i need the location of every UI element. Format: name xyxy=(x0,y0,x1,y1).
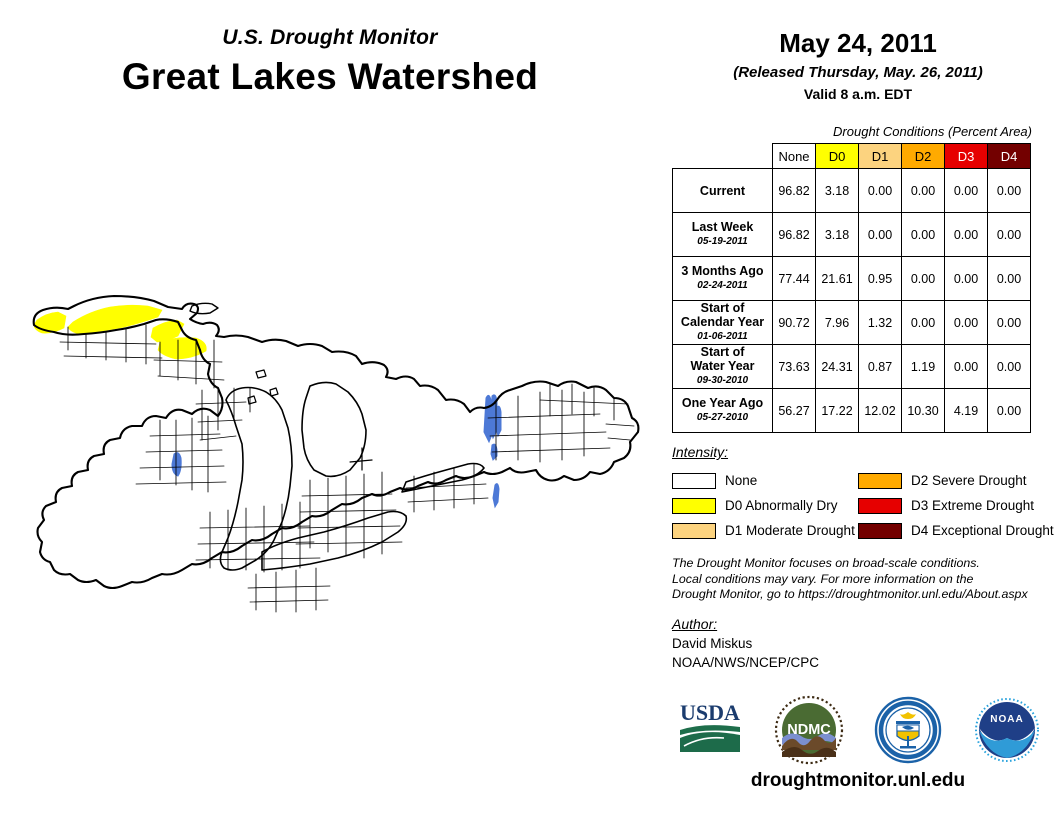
table-row: One Year Ago05-27-201056.2717.2212.0210.… xyxy=(673,389,1031,433)
site-url: droughtmonitor.unl.edu xyxy=(660,770,1056,792)
table-cell-d1: 0.00 xyxy=(859,213,902,257)
d0-area-northwest xyxy=(34,312,66,333)
disclaimer-line-2: Local conditions may vary. For more info… xyxy=(672,572,1052,588)
map-boundaries xyxy=(34,296,639,612)
table-cell-d1: 12.02 xyxy=(859,389,902,433)
great-lakes-watershed-map xyxy=(10,280,660,640)
table-corner-cell xyxy=(673,144,773,169)
table-col-header-d4: D4 xyxy=(988,144,1031,169)
page-subtitle: U.S. Drought Monitor xyxy=(0,26,660,50)
table-col-header-d2: D2 xyxy=(902,144,945,169)
table-row-date: 01-06-2011 xyxy=(673,330,772,344)
table-row-label: Start ofCalendar Year01-06-2011 xyxy=(673,301,773,345)
svg-text:USDA: USDA xyxy=(680,700,740,725)
author-name: David Miskus xyxy=(672,636,1052,651)
legend-item: D1 Moderate Drought xyxy=(672,518,858,543)
table-cell-d1: 1.32 xyxy=(859,301,902,345)
table-cell-none: 56.27 xyxy=(773,389,816,433)
table-row-label: 3 Months Ago02-24-2011 xyxy=(673,257,773,301)
table-cell-d3: 0.00 xyxy=(945,257,988,301)
table-cell-d2: 0.00 xyxy=(902,257,945,301)
legend-swatch xyxy=(672,523,716,539)
table-cell-d4: 0.00 xyxy=(988,169,1031,213)
table-cell-d2: 1.19 xyxy=(902,345,945,389)
table-col-header-d0: D0 xyxy=(816,144,859,169)
legend-swatch xyxy=(672,473,716,489)
author-heading: Author: xyxy=(672,616,1052,632)
legend-swatch xyxy=(858,523,902,539)
table-cell-d0: 3.18 xyxy=(816,169,859,213)
table-cell-none: 96.82 xyxy=(773,213,816,257)
table-header: NoneD0D1D2D3D4 xyxy=(673,144,1031,169)
author-block: Author: David Miskus NOAA/NWS/NCEP/CPC xyxy=(672,616,1052,670)
disclaimer-line-1: The Drought Monitor focuses on broad-sca… xyxy=(672,556,1052,572)
table-row-label: Start ofWater Year09-30-2010 xyxy=(673,345,773,389)
table-cell-d4: 0.00 xyxy=(988,257,1031,301)
noaa-logo-icon: NOAA xyxy=(971,694,1043,766)
svg-text:NOAA: NOAA xyxy=(990,714,1023,725)
usda-logo-icon: USDA xyxy=(674,694,746,766)
table-cell-d1: 0.00 xyxy=(859,169,902,213)
ndmc-logo: NDMC xyxy=(773,694,845,766)
legend-item: None xyxy=(672,468,858,493)
disclaimer-text: The Drought Monitor focuses on broad-sca… xyxy=(672,556,1052,603)
table-row: Current96.823.180.000.000.000.00 xyxy=(673,169,1031,213)
intensity-legend-title: Intensity: xyxy=(672,444,1044,460)
table-cell-d4: 0.00 xyxy=(988,213,1031,257)
table-row-label: Current xyxy=(673,169,773,213)
map-drought-areas xyxy=(34,305,206,359)
legend-label: None xyxy=(725,473,757,488)
author-affiliation: NOAA/NWS/NCEP/CPC xyxy=(672,655,1052,670)
table-cell-d1: 0.87 xyxy=(859,345,902,389)
lake-champlain-south xyxy=(493,484,499,507)
legend-swatch xyxy=(858,498,902,514)
usda-logo: USDA xyxy=(674,694,746,766)
svg-text:NDMC: NDMC xyxy=(787,722,831,738)
usdc-seal xyxy=(872,694,944,766)
inland-lake-west xyxy=(172,453,181,476)
legend-label: D4 Exceptional Drought xyxy=(911,523,1054,538)
table-cell-none: 73.63 xyxy=(773,345,816,389)
table-row: Start ofCalendar Year01-06-201190.727.96… xyxy=(673,301,1031,345)
table-cell-d2: 0.00 xyxy=(902,169,945,213)
table-cell-d3: 4.19 xyxy=(945,389,988,433)
legend-label: D1 Moderate Drought xyxy=(725,523,855,538)
legend-swatch xyxy=(858,473,902,489)
table-cell-d2: 10.30 xyxy=(902,389,945,433)
legend-item: D4 Exceptional Drought xyxy=(858,518,1044,543)
legend-item: D0 Abnormally Dry xyxy=(672,493,858,518)
table-cell-d0: 3.18 xyxy=(816,213,859,257)
legend-item: D3 Extreme Drought xyxy=(858,493,1044,518)
date-block: May 24, 2011 (Released Thursday, May. 26… xyxy=(660,28,1056,102)
table-cell-d4: 0.00 xyxy=(988,301,1031,345)
table-row-date: 05-27-2010 xyxy=(673,411,772,425)
valid-date: May 24, 2011 xyxy=(660,28,1056,59)
table-cell-d2: 0.00 xyxy=(902,301,945,345)
table-cell-d3: 0.00 xyxy=(945,169,988,213)
table-row: Start ofWater Year09-30-201073.6324.310.… xyxy=(673,345,1031,389)
table-cell-d4: 0.00 xyxy=(988,345,1031,389)
intensity-legend-column-right: D2 Severe DroughtD3 Extreme DroughtD4 Ex… xyxy=(858,468,1044,543)
noaa-logo: NOAA xyxy=(971,694,1043,766)
valid-time: Valid 8 a.m. EDT xyxy=(660,86,1056,102)
table-col-header-none: None xyxy=(773,144,816,169)
table-header-row: NoneD0D1D2D3D4 xyxy=(673,144,1031,169)
drought-conditions-table: NoneD0D1D2D3D4 Current96.823.180.000.000… xyxy=(672,143,1031,433)
table-cell-d0: 7.96 xyxy=(816,301,859,345)
intensity-legend: Intensity: NoneD0 Abnormally DryD1 Moder… xyxy=(672,444,1044,543)
legend-label: D3 Extreme Drought xyxy=(911,498,1034,513)
table-cell-d0: 21.61 xyxy=(816,257,859,301)
table-cell-none: 77.44 xyxy=(773,257,816,301)
legend-swatch xyxy=(672,498,716,514)
table-body: Current96.823.180.000.000.000.00Last Wee… xyxy=(673,169,1031,433)
table-cell-none: 96.82 xyxy=(773,169,816,213)
table-cell-d2: 0.00 xyxy=(902,213,945,257)
table-caption: Drought Conditions (Percent Area) xyxy=(672,124,1032,139)
table-cell-d0: 24.31 xyxy=(816,345,859,389)
table-row-date: 02-24-2011 xyxy=(673,279,772,293)
table-row: Last Week05-19-201196.823.180.000.000.00… xyxy=(673,213,1031,257)
usdc-seal-icon xyxy=(872,694,944,766)
legend-item: D2 Severe Drought xyxy=(858,468,1044,493)
table-cell-d3: 0.00 xyxy=(945,301,988,345)
table-row: 3 Months Ago02-24-201177.4421.610.950.00… xyxy=(673,257,1031,301)
table-cell-d1: 0.95 xyxy=(859,257,902,301)
page-title-block: U.S. Drought Monitor Great Lakes Watersh… xyxy=(0,26,660,98)
disclaimer-line-3: Drought Monitor, go to https://droughtmo… xyxy=(672,587,1052,603)
table-cell-none: 90.72 xyxy=(773,301,816,345)
table-row-label: Last Week05-19-2011 xyxy=(673,213,773,257)
table-row-label: One Year Ago05-27-2010 xyxy=(673,389,773,433)
table-cell-d0: 17.22 xyxy=(816,389,859,433)
table-col-header-d3: D3 xyxy=(945,144,988,169)
legend-label: D0 Abnormally Dry xyxy=(725,498,838,513)
finger-lake-east-c xyxy=(496,406,501,436)
release-date: (Released Thursday, May. 26, 2011) xyxy=(660,64,1056,81)
table-cell-d4: 0.00 xyxy=(988,389,1031,433)
table-cell-d3: 0.00 xyxy=(945,213,988,257)
ndmc-logo-icon: NDMC xyxy=(773,694,845,766)
table-row-date: 05-19-2011 xyxy=(673,235,772,249)
intensity-legend-column-left: NoneD0 Abnormally DryD1 Moderate Drought xyxy=(672,468,858,543)
logo-row: USDA NDMC xyxy=(660,690,1056,770)
map-container xyxy=(10,280,660,640)
table-cell-d3: 0.00 xyxy=(945,345,988,389)
table-col-header-d1: D1 xyxy=(859,144,902,169)
page-title: Great Lakes Watershed xyxy=(0,56,660,98)
legend-label: D2 Severe Drought xyxy=(911,473,1027,488)
table-row-date: 09-30-2010 xyxy=(673,374,772,388)
